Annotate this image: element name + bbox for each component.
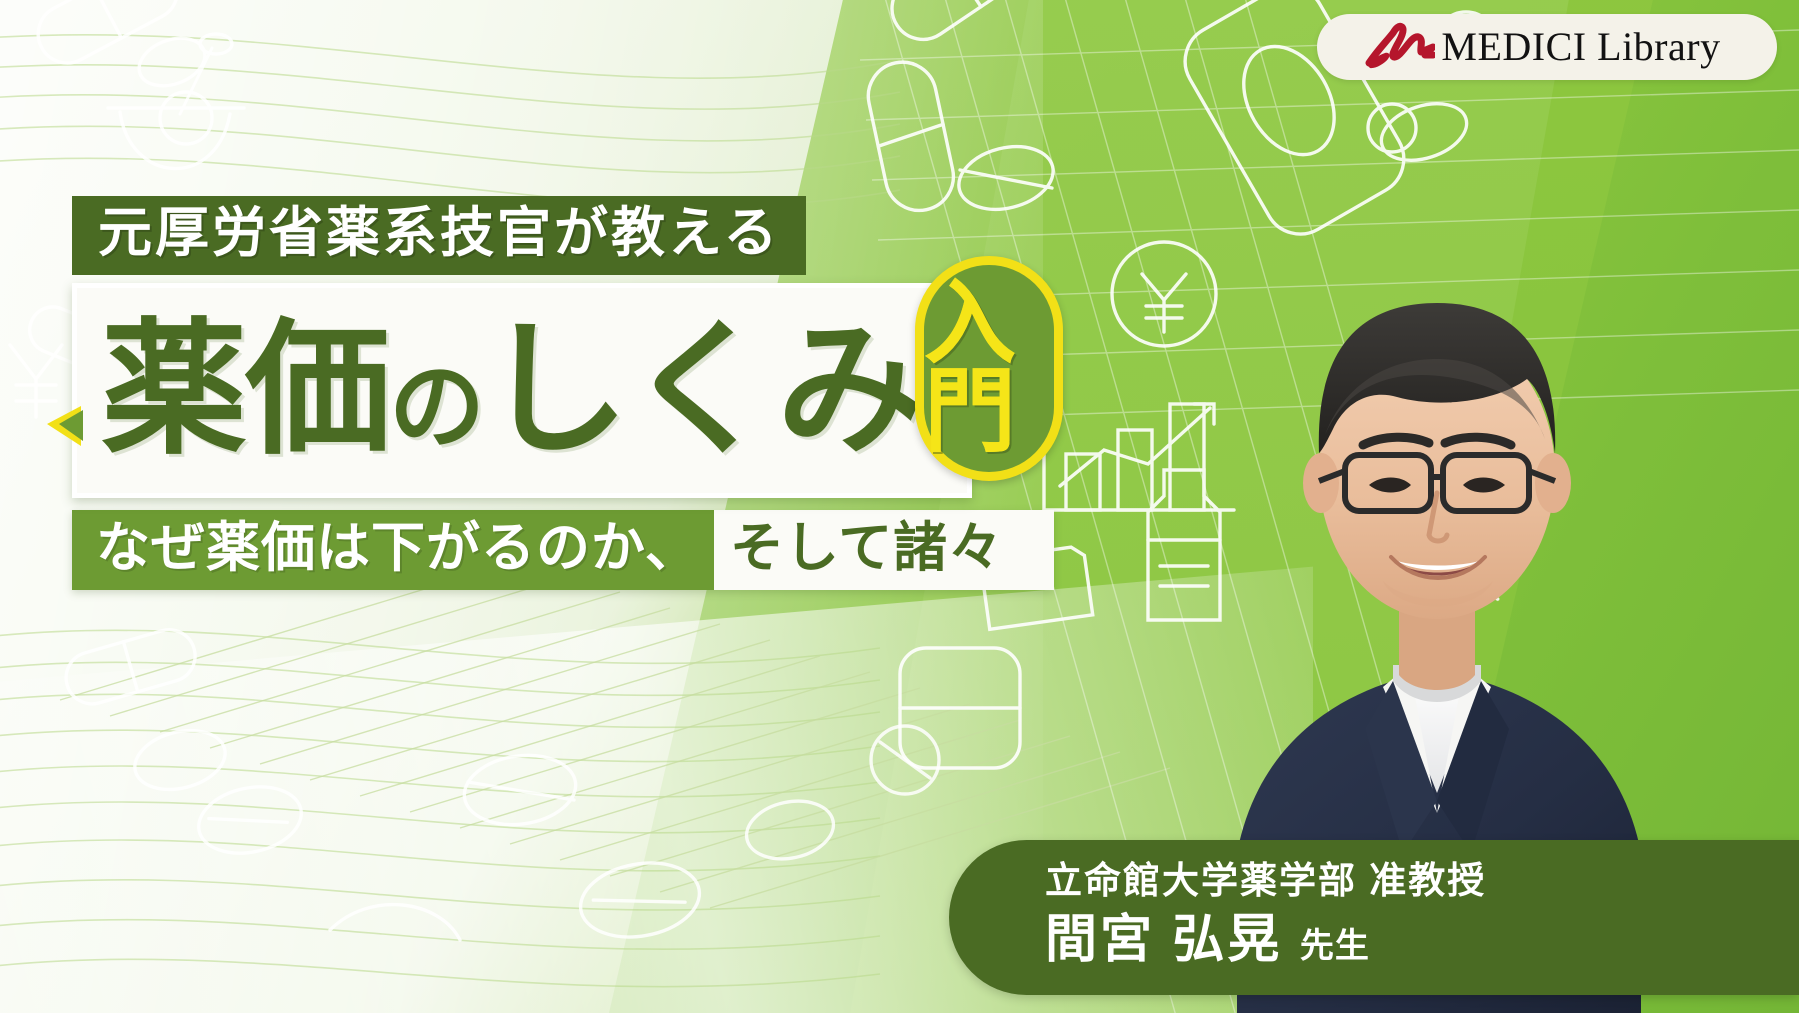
speaker-name-text: 間宮 弘晃 xyxy=(1045,911,1282,969)
subtitle-banner: なぜ薬価は下がるのか、 そして諸々 xyxy=(72,510,1054,591)
main-title-part-2: しくみ xyxy=(483,308,921,471)
speaker-plate: 立命館大学薬学部 准教授 間宮 弘晃 先生 xyxy=(949,840,1799,995)
subtitle-highlight: なぜ薬価は下がるのか、 xyxy=(72,510,714,591)
level-badge-text: 入門 xyxy=(924,280,1054,457)
main-title: 薬価のしくみ xyxy=(77,317,921,463)
level-badge: 入門 xyxy=(915,256,1063,481)
speaker-affiliation: 立命館大学薬学部 准教授 xyxy=(1045,858,1743,904)
main-title-part-1: 薬価 xyxy=(101,308,389,471)
badge-tail-fill xyxy=(59,410,83,441)
promo-banner: MEDICI Library 元厚労省薬系技官が教える 薬価のしくみ 入門 なぜ… xyxy=(0,0,1799,1013)
speaker-honorific: 先生 xyxy=(1300,927,1370,965)
eyebrow-banner: 元厚労省薬系技官が教える xyxy=(72,196,806,275)
main-title-particle: の xyxy=(389,354,483,461)
brush-stroke-mark xyxy=(1363,21,1435,73)
subtitle-rest: そして諸々 xyxy=(714,510,1054,591)
brand-logo[interactable]: MEDICI Library xyxy=(1317,14,1777,80)
brand-logo-text: MEDICI Library xyxy=(1441,27,1720,67)
main-title-panel: 薬価のしくみ 入門 xyxy=(72,283,972,498)
headline-block: 元厚労省薬系技官が教える 薬価のしくみ 入門 なぜ薬価は下がるのか、 そして諸々 xyxy=(72,196,1054,590)
speaker-name: 間宮 弘晃 先生 xyxy=(1045,908,1743,973)
